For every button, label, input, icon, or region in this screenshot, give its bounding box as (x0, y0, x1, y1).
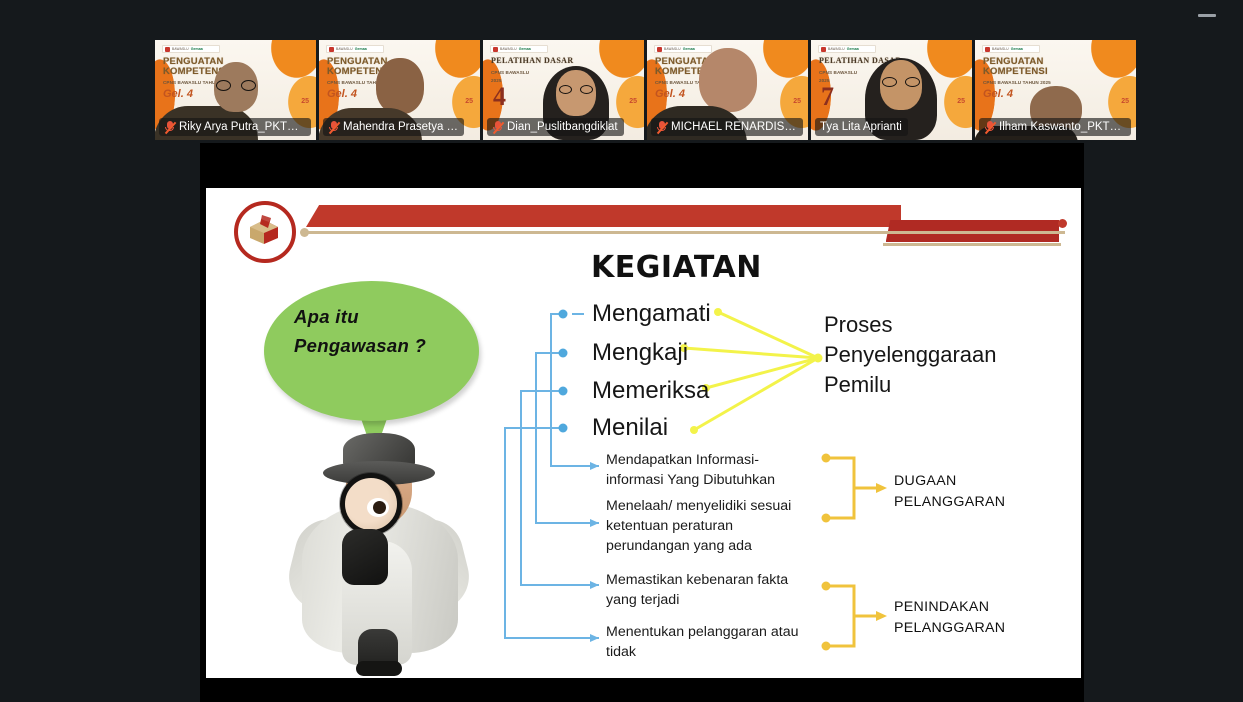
bawaslu-ballot-box-icon (234, 201, 296, 263)
banner-left-dot-icon (300, 228, 309, 237)
participant-filmstrip[interactable]: BAWASLU Gemaa PENGUATAN KOMPETENSI CPNS … (155, 40, 1089, 140)
brand-mark-icon (165, 47, 170, 52)
bubble-line-2: Pengawasan ? (294, 332, 459, 361)
poster-badge: 7 (821, 84, 834, 110)
mic-muted-icon (164, 121, 175, 134)
banner-gold-rule (302, 231, 1065, 234)
participant-tile[interactable]: BAWASLU Gemaa PENGUATAN KOMPETENSI CPNS … (319, 40, 480, 140)
poster-cornermark: 25 (1121, 98, 1129, 105)
detail-item-3: Memastikan kebenaran fakta yang terjadi (606, 570, 811, 610)
glasses-icon (559, 84, 593, 95)
outcome-2: PENINDAKAN PELANGGARAN (894, 597, 1005, 638)
brand-mark-icon (657, 47, 662, 52)
poster-cornermark: 25 (465, 98, 473, 105)
poster-title: PELATIHAN DASAR (491, 57, 591, 65)
glasses-icon (216, 80, 256, 91)
poster-cornermark: 25 (957, 98, 965, 105)
main-target-line-2: Penyelenggaraan (824, 340, 1034, 370)
participant-name: Dian_Puslitbangdiklat (507, 121, 618, 133)
bubble-line-1: Apa itu (294, 303, 459, 332)
participant-name-label: Tya Lita Aprianti (815, 118, 908, 136)
slide-header-banner (302, 204, 1065, 252)
slide-heading: KEGIATAN (591, 250, 762, 285)
main-target-text: Proses Penyelenggaraan Pemilu (824, 310, 1034, 400)
poster-title: PENGUATAN KOMPETENSI (983, 57, 1083, 77)
zoom-meeting-window: BAWASLU Gemaa PENGUATAN KOMPETENSI CPNS … (0, 0, 1243, 702)
poster-badge: 4 (493, 84, 506, 110)
minimize-button[interactable] (1195, 6, 1219, 24)
detective-magnifier-illustration (290, 433, 470, 676)
banner-gold-rule-2 (883, 243, 1061, 246)
minimize-icon (1198, 14, 1216, 17)
detail-item-2: Menelaah/ menyelidiki sesuai ketentuan p… (606, 496, 811, 556)
main-target-line-1: Proses (824, 310, 1034, 340)
poster-cornermark: 25 (629, 98, 637, 105)
participant-tile[interactable]: BAWASLU Gemaa PENGUATAN KOMPETENSI CPNS … (647, 40, 808, 140)
mic-muted-icon (984, 121, 995, 134)
banner-primary-bar (306, 205, 901, 227)
brand-logo: BAWASLU Gemaa (162, 45, 220, 53)
participant-name-label: Dian_Puslitbangdiklat (487, 118, 624, 136)
banner-right-dot-icon (1058, 219, 1067, 228)
speech-bubble-text: Apa itu Pengawasan ? (294, 303, 459, 360)
participant-tile[interactable]: BAWASLU Gemaa PENGUATAN KOMPETENSI CPNS … (155, 40, 316, 140)
brand-logo: BAWASLU Gemaa (326, 45, 384, 53)
participant-name: Ilham Kaswanto_PKTB… (999, 121, 1125, 133)
detail-item-1: Mendapatkan Informasi- informasi Yang Di… (606, 450, 811, 490)
glasses-icon (882, 76, 920, 87)
brand-logo: BAWASLU Gemaa (818, 45, 876, 53)
participant-name-label: Mahendra Prasetya … (323, 118, 464, 136)
participant-name-label: MICHAEL RENARDIS … (651, 118, 803, 136)
mic-muted-icon (492, 121, 503, 134)
participant-name: Riky Arya Putra_PKTB… (179, 121, 305, 133)
outcome-1: DUGAAN PELANGGARAN (894, 471, 1005, 512)
brand-mark-icon (493, 47, 498, 52)
main-item-3: Memeriksa (592, 377, 709, 405)
participant-name-label: Ilham Kaswanto_PKTB… (979, 118, 1131, 136)
poster-cornermark: 25 (301, 98, 309, 105)
poster-cornermark: 25 (793, 98, 801, 105)
main-item-4: Menilai (592, 414, 668, 442)
main-target-line-3: Pemilu (824, 370, 1034, 400)
speech-bubble: Apa itu Pengawasan ? (264, 281, 479, 421)
presentation-slide: Apa itu Pengawasan ? (206, 188, 1081, 678)
brand-mark-icon (821, 47, 826, 52)
magnifying-glass-icon (340, 473, 402, 535)
participant-name: Tya Lita Aprianti (820, 121, 902, 133)
poster-line3: CPNS BAWASLU TAHUN 2025 (983, 80, 1083, 85)
main-item-2: Mengkaji (592, 339, 688, 367)
participant-tile[interactable]: BAWASLU Gemaa PELATIHAN DASAR CPNS BAWAS… (483, 40, 644, 140)
brand-mark-icon (985, 47, 990, 52)
mic-muted-icon (656, 121, 667, 134)
participant-tile-active-speaker[interactable]: BAWASLU Gemaa PELATIHAN DASAR CPNS BAWAS… (811, 40, 972, 140)
mic-muted-icon (328, 121, 339, 134)
participant-name-label: Riky Arya Putra_PKTB… (159, 118, 311, 136)
main-item-1: Mengamati (592, 300, 711, 328)
brand-logo: BAWASLU Gemaa (982, 45, 1040, 53)
detail-item-4: Menentukan pelanggaran atau tidak (606, 622, 811, 662)
brand-logo: BAWASLU Gemaa (490, 45, 548, 53)
participant-tile[interactable]: BAWASLU Gemaa PENGUATAN KOMPETENSI CPNS … (975, 40, 1136, 140)
brand-mark-icon (329, 47, 334, 52)
participant-name: MICHAEL RENARDIS … (671, 121, 797, 133)
participant-name: Mahendra Prasetya … (343, 121, 458, 133)
